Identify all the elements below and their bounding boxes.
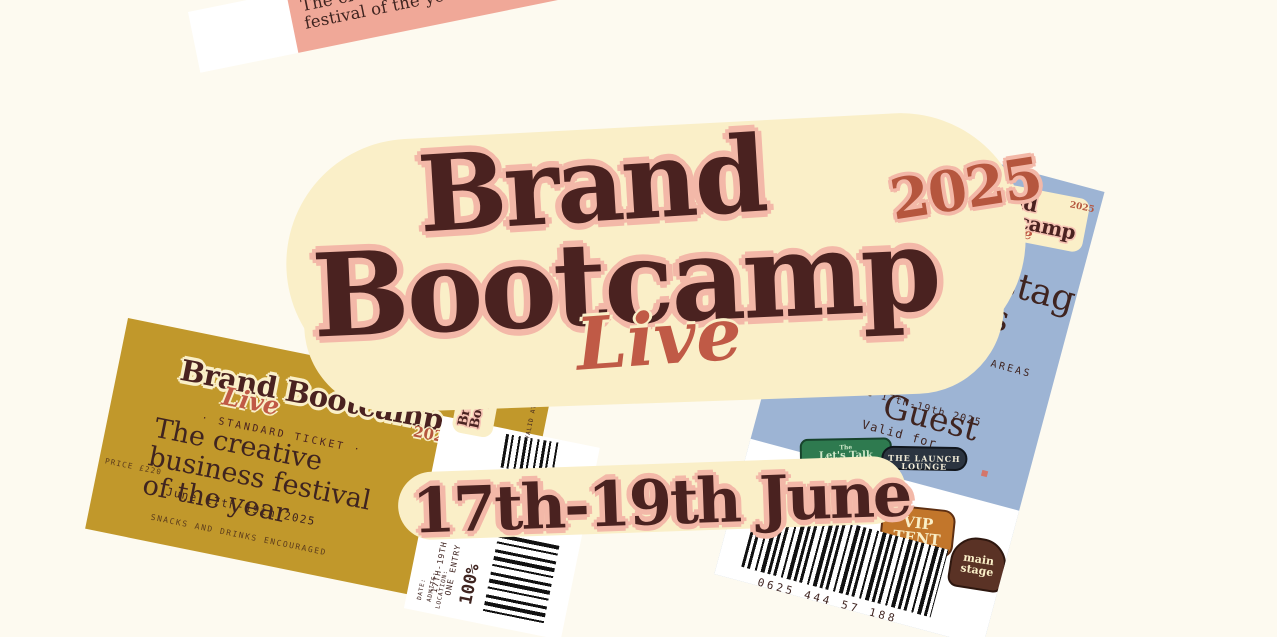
hero-script-live: Live xyxy=(573,290,744,386)
wristband-tab-left xyxy=(188,0,303,73)
decorative-square xyxy=(981,470,988,477)
vip-wristband: The creative business festival of the ye… xyxy=(188,0,788,73)
poster-canvas: The creative business festival of the ye… xyxy=(0,0,1277,637)
date-banner: 17th-19th June xyxy=(388,452,918,548)
hero-logo: Brand Bootcamp 2025 Live xyxy=(268,108,1058,398)
stub-percent: 100% xyxy=(456,562,484,606)
